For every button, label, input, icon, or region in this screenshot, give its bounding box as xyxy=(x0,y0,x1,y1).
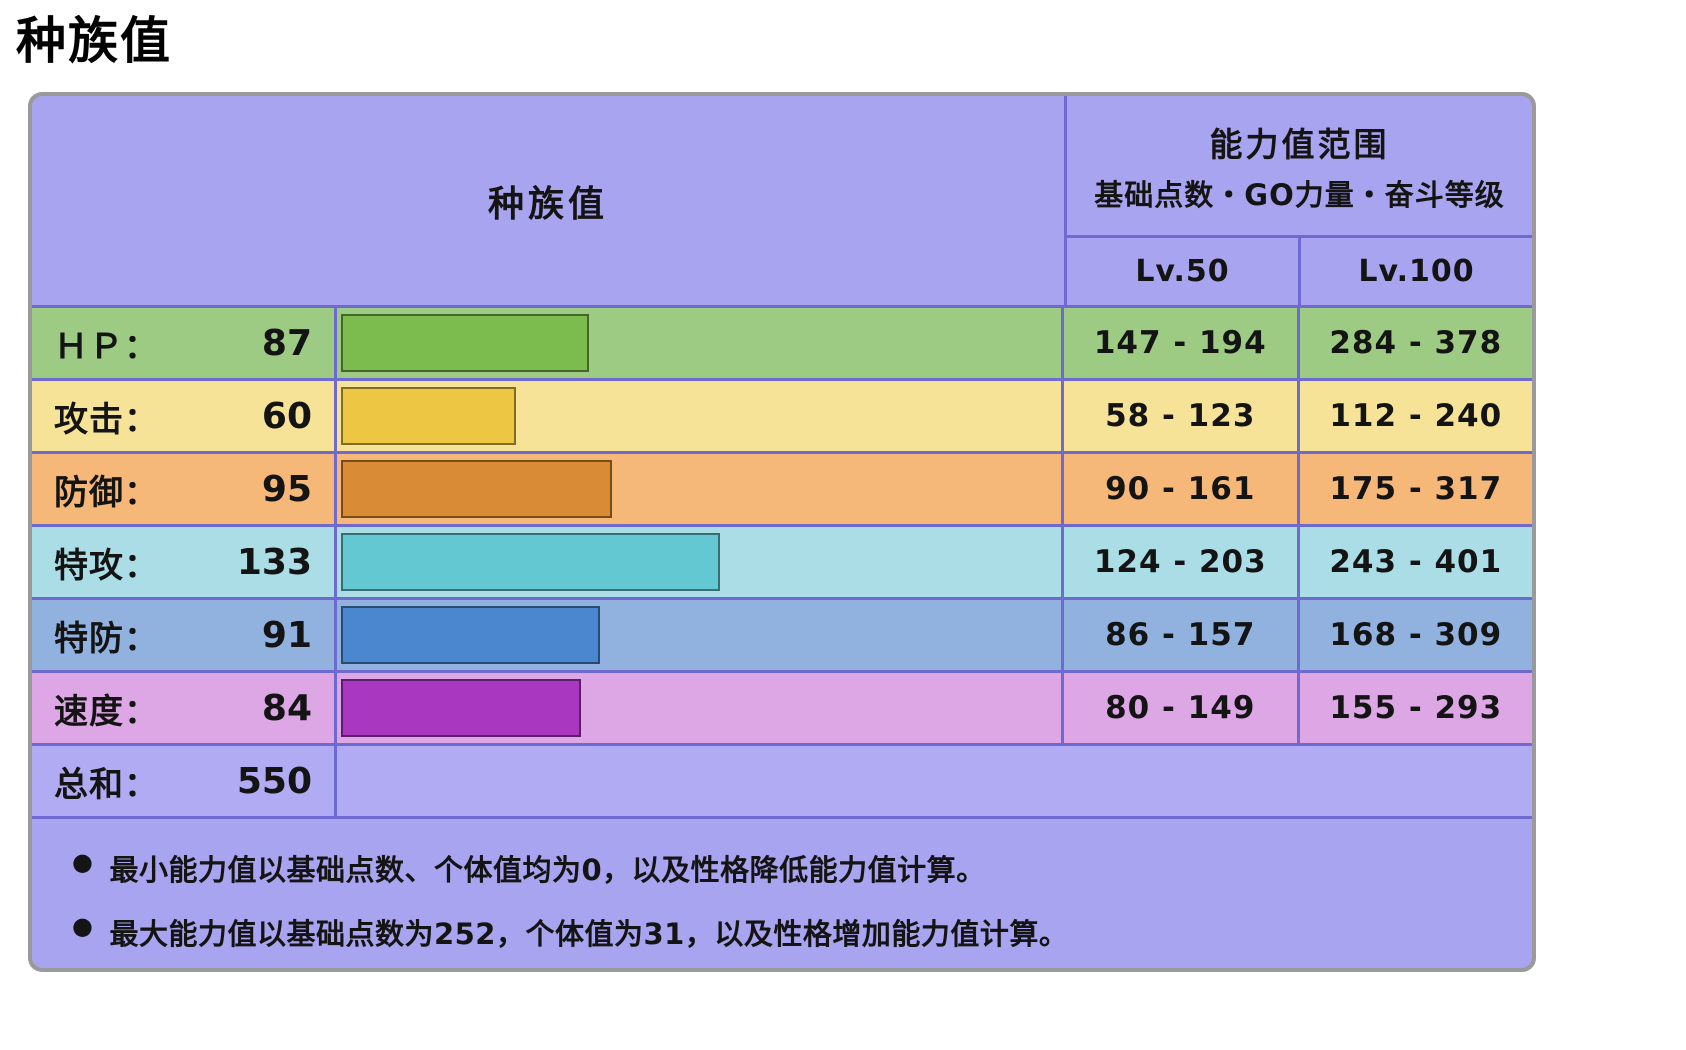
stat-label-cell-hp: ＨＰ：87 xyxy=(32,308,337,378)
stat-row-attack: 攻击：6058 - 123112 - 240 xyxy=(32,381,1532,454)
stat-bar-cell-attack xyxy=(337,381,1064,451)
stat-bar-sp-defense xyxy=(341,606,600,664)
stat-lv100-hp: 284 - 378 xyxy=(1300,308,1533,378)
stat-lv50-attack: 58 - 123 xyxy=(1064,381,1300,451)
stat-value-hp: 87 xyxy=(262,323,312,364)
footnotes: ● 最小能力值以基础点数、个体值均为0，以及性格降低能力值计算。 ● 最大能力值… xyxy=(32,819,1532,968)
bullet-icon: ● xyxy=(72,911,93,942)
stat-label-hp: ＨＰ： xyxy=(54,319,159,368)
footnote-max-text: 最大能力值以基础点数为252，个体值为31，以及性格增加能力值计算。 xyxy=(109,911,1068,953)
table-header: 种族值 能力值范围 基础点数・GO力量・奋斗等级 Lv.50 Lv.100 xyxy=(32,96,1532,308)
header-level-columns: Lv.50 Lv.100 xyxy=(1067,238,1532,308)
stat-value-sp-attack: 133 xyxy=(237,542,312,583)
stat-bar-cell-hp xyxy=(337,308,1064,378)
stats-page: 种族值 种族值 能力值范围 基础点数・GO力量・奋斗等级 Lv.50 Lv.10… xyxy=(0,0,1686,1050)
header-range-group: 能力值范围 基础点数・GO力量・奋斗等级 Lv.50 Lv.100 xyxy=(1067,96,1532,308)
total-row: 总和： 550 xyxy=(32,746,1532,819)
stat-lv50-sp-attack: 124 - 203 xyxy=(1064,527,1300,597)
stat-lv100-speed: 155 - 293 xyxy=(1300,673,1533,743)
stat-label-sp-attack: 特攻： xyxy=(54,538,159,587)
base-stats-table: 种族值 能力值范围 基础点数・GO力量・奋斗等级 Lv.50 Lv.100 ＨＰ… xyxy=(28,92,1536,972)
stat-lv50-speed: 80 - 149 xyxy=(1064,673,1300,743)
stat-row-speed: 速度：8480 - 149155 - 293 xyxy=(32,673,1532,746)
stat-row-hp: ＨＰ：87147 - 194284 - 378 xyxy=(32,308,1532,381)
stat-bar-sp-attack xyxy=(341,533,720,591)
stat-lv50-hp: 147 - 194 xyxy=(1064,308,1300,378)
total-empty-cell xyxy=(337,746,1532,816)
stat-value-attack: 60 xyxy=(262,396,312,437)
stat-bar-cell-sp-defense xyxy=(337,600,1064,670)
stat-row-sp-defense: 特防：9186 - 157168 - 309 xyxy=(32,600,1532,673)
stat-label-cell-sp-attack: 特攻：133 xyxy=(32,527,337,597)
footnote-min: ● 最小能力值以基础点数、个体值均为0，以及性格降低能力值计算。 xyxy=(72,847,1502,889)
stat-lv50-sp-defense: 86 - 157 xyxy=(1064,600,1300,670)
bullet-icon: ● xyxy=(72,847,93,878)
stat-label-cell-attack: 攻击：60 xyxy=(32,381,337,451)
stat-label-cell-sp-defense: 特防：91 xyxy=(32,600,337,670)
page-title: 种族值 xyxy=(16,14,172,69)
stat-lv100-defense: 175 - 317 xyxy=(1300,454,1533,524)
stat-bar-cell-defense xyxy=(337,454,1064,524)
total-label: 总和： xyxy=(54,757,159,806)
stats-table-inner: 种族值 能力值范围 基础点数・GO力量・奋斗等级 Lv.50 Lv.100 ＨＰ… xyxy=(32,96,1532,968)
stat-bar-attack xyxy=(341,387,516,445)
header-range-title: 能力值范围 xyxy=(1210,118,1390,166)
total-label-cell: 总和： 550 xyxy=(32,746,337,816)
stat-row-defense: 防御：9590 - 161175 - 317 xyxy=(32,454,1532,527)
header-range-subtitle: 基础点数・GO力量・奋斗等级 xyxy=(1094,172,1504,214)
stat-lv100-sp-defense: 168 - 309 xyxy=(1300,600,1533,670)
stat-bar-defense xyxy=(341,460,612,518)
stat-bar-cell-speed xyxy=(337,673,1064,743)
header-range-titles: 能力值范围 基础点数・GO力量・奋斗等级 xyxy=(1067,96,1532,238)
stat-label-speed: 速度： xyxy=(54,684,159,733)
total-value: 550 xyxy=(237,761,312,802)
stat-label-cell-defense: 防御：95 xyxy=(32,454,337,524)
stat-row-sp-attack: 特攻：133124 - 203243 - 401 xyxy=(32,527,1532,600)
stat-lv50-defense: 90 - 161 xyxy=(1064,454,1300,524)
stat-value-speed: 84 xyxy=(262,688,312,729)
stat-bar-cell-sp-attack xyxy=(337,527,1064,597)
stat-value-sp-defense: 91 xyxy=(262,615,312,656)
stat-bar-hp xyxy=(341,314,589,372)
header-base-stats-label: 种族值 xyxy=(32,96,1067,308)
stat-label-cell-speed: 速度：84 xyxy=(32,673,337,743)
stat-label-defense: 防御： xyxy=(54,465,159,514)
stat-bar-speed xyxy=(341,679,581,737)
footnote-max: ● 最大能力值以基础点数为252，个体值为31，以及性格增加能力值计算。 xyxy=(72,911,1502,953)
stat-label-attack: 攻击： xyxy=(54,392,159,441)
stat-lv100-attack: 112 - 240 xyxy=(1300,381,1533,451)
stat-label-sp-defense: 特防： xyxy=(54,611,159,660)
header-lv50: Lv.50 xyxy=(1067,238,1301,305)
stat-lv100-sp-attack: 243 - 401 xyxy=(1300,527,1533,597)
footnote-min-text: 最小能力值以基础点数、个体值均为0，以及性格降低能力值计算。 xyxy=(109,847,985,889)
stat-value-defense: 95 xyxy=(262,469,312,510)
header-lv100: Lv.100 xyxy=(1301,238,1532,305)
